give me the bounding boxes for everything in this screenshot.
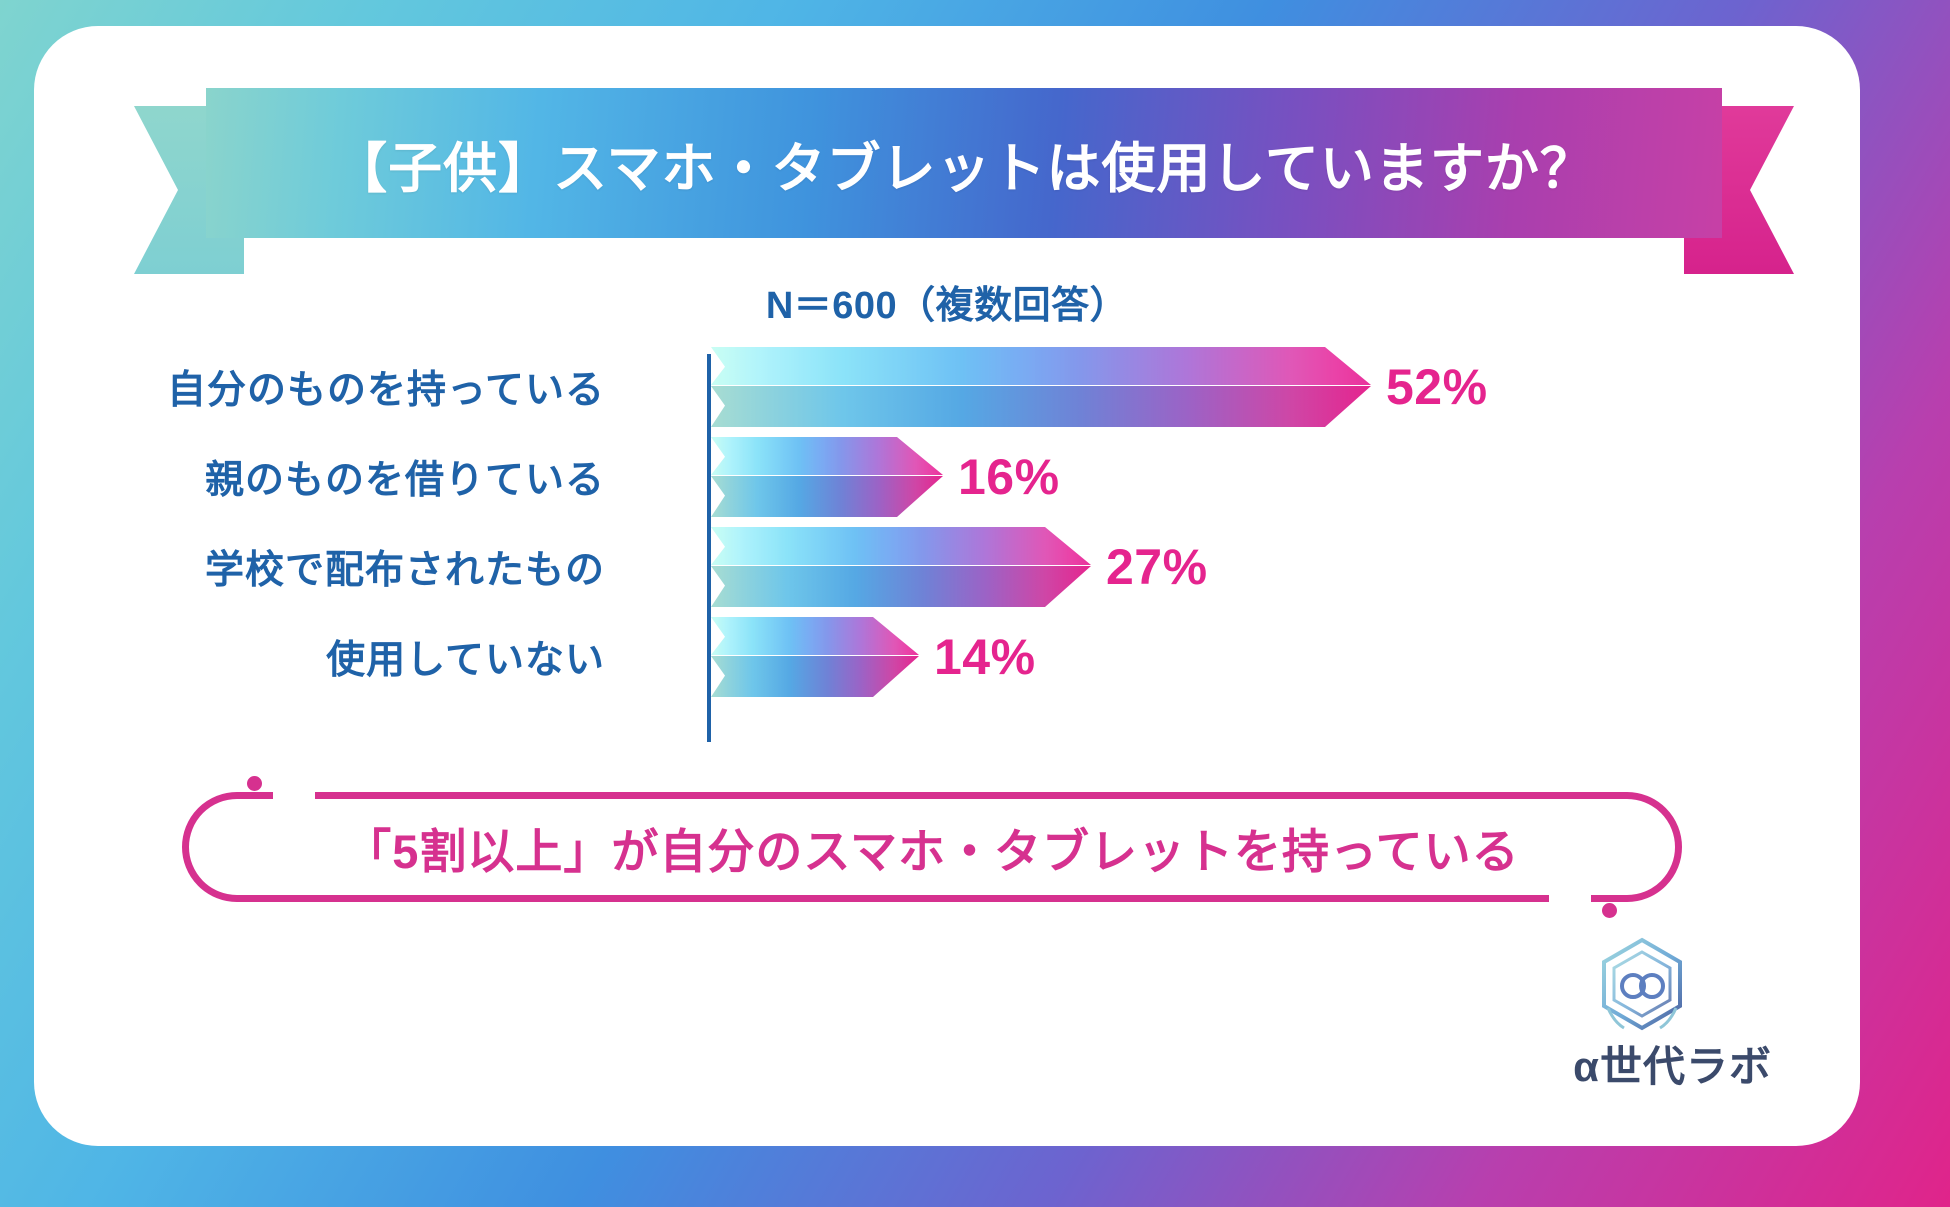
- bar-category-label: 使用していない: [326, 629, 605, 685]
- bar-category-label: 学校で配布されたもの: [205, 539, 605, 595]
- bar-value-label: 16%: [958, 448, 1060, 506]
- banner-title: 【子供】スマホ・タブレットは使用していますか？: [333, 124, 1595, 203]
- logo-wordmark: α世代ラボ: [1573, 1033, 1772, 1094]
- ribbon-body: 【子供】スマホ・タブレットは使用していますか？: [206, 88, 1722, 238]
- bar-bottom-face: [711, 656, 919, 697]
- bar-row: 使用していない 14%: [34, 614, 1860, 700]
- bar-shape: [711, 527, 1091, 607]
- infographic-root: 【子供】スマホ・タブレットは使用していますか？ N＝600（複数回答） 自分のも…: [0, 0, 1950, 1207]
- bar-value-label: 27%: [1106, 538, 1208, 596]
- bar-top-face: [711, 437, 943, 475]
- bar-row: 学校で配布されたもの 27%: [34, 524, 1860, 610]
- content-card: 【子供】スマホ・タブレットは使用していますか？ N＝600（複数回答） 自分のも…: [34, 26, 1860, 1146]
- bar-bottom-face: [711, 566, 1091, 607]
- callout-dot-bottom-right-icon: [1602, 903, 1617, 918]
- summary-callout: 「5割以上」が自分のスマホ・タブレットを持っている: [182, 792, 1682, 902]
- bar-category-label: 親のものを借りている: [205, 449, 605, 505]
- bar-value-label: 14%: [934, 628, 1036, 686]
- bar-bottom-face: [711, 386, 1371, 427]
- bar-row: 自分のものを持っている 52%: [34, 344, 1860, 430]
- alpha-hexagon-logo-icon: [1590, 934, 1694, 1038]
- sample-size-note: N＝600（複数回答）: [34, 274, 1860, 329]
- bar-shape: [711, 347, 1371, 427]
- bar-category-label: 自分のものを持っている: [167, 359, 605, 415]
- callout-gap-top: [273, 791, 315, 807]
- bar-top-face: [711, 617, 919, 655]
- callout-text: 「5割以上」が自分のスマホ・タブレットを持っている: [344, 813, 1519, 882]
- bar-row: 親のものを借りている 16%: [34, 434, 1860, 520]
- banner-ribbon: 【子供】スマホ・タブレットは使用していますか？: [134, 88, 1794, 238]
- bar-value-label: 52%: [1386, 358, 1488, 416]
- bar-chart: 自分のものを持っている 52% 親のものを借りている 16% 学校で配布されたも…: [34, 344, 1860, 744]
- callout-dot-top-left-icon: [247, 776, 262, 791]
- brand-logo: α世代ラボ: [1502, 934, 1772, 1094]
- bar-shape: [711, 617, 919, 697]
- bar-bottom-face: [711, 476, 943, 517]
- bar-shape: [711, 437, 943, 517]
- bar-top-face: [711, 527, 1091, 565]
- bar-top-face: [711, 347, 1371, 385]
- callout-gap-bottom: [1549, 887, 1591, 903]
